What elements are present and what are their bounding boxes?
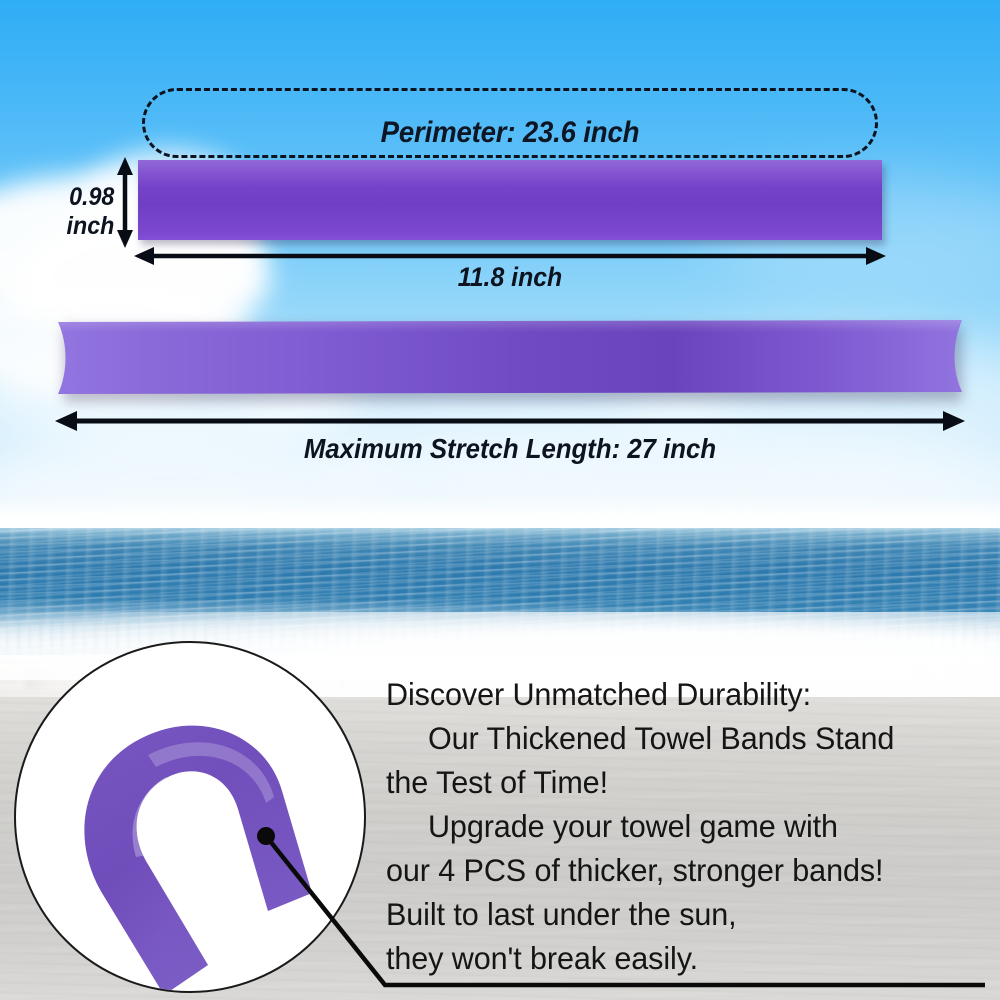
copy-line: Upgrade your towel game with <box>386 804 968 848</box>
perimeter-measurement-label: Perimeter: 23.6 inch <box>171 116 848 150</box>
height-measurement-label: 0.98 inch <box>18 183 115 241</box>
copy-line: Discover Unmatched Durability: <box>386 672 968 716</box>
stretched-band-graphic <box>58 318 962 398</box>
stretched-band-shape <box>58 318 962 398</box>
copy-line: the Test of Time! <box>386 760 968 804</box>
copy-line: our 4 PCS of thicker, stronger bands! <box>386 848 968 892</box>
band-highlight <box>138 160 882 187</box>
infographic-canvas: Perimeter: 23.6 inch 0.98 inch 11.8 inch <box>0 0 1000 1000</box>
length-measurement-label: 11.8 inch <box>168 262 852 293</box>
copy-line: Our Thickened Towel Bands Stand <box>386 716 968 760</box>
copy-line: Built to last under the sun, <box>386 892 968 936</box>
marketing-copy-block: Discover Unmatched Durability: Our Thick… <box>386 672 968 980</box>
copy-line: they won't break easily. <box>386 936 968 980</box>
flat-band-graphic <box>138 160 882 240</box>
stretch-measurement-label: Maximum Stretch Length: 27 inch <box>94 433 926 465</box>
